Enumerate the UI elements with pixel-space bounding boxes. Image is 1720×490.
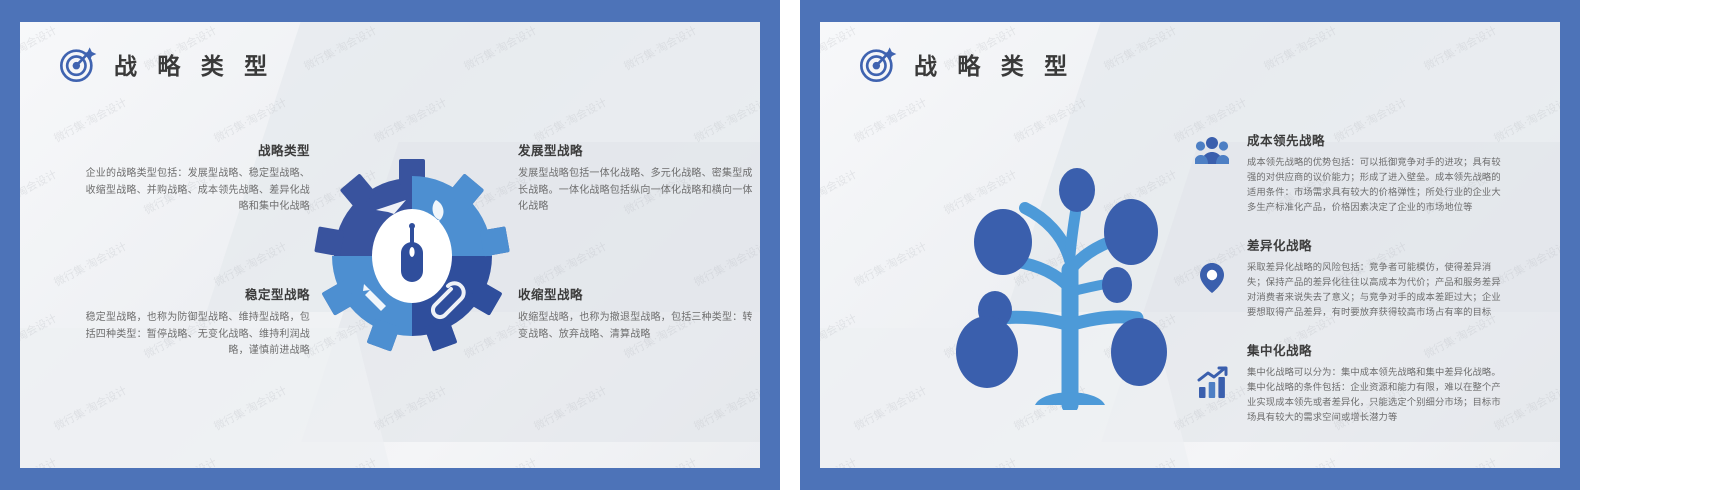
- watermark-text: 微行集·淘会设计: [51, 238, 130, 290]
- watermark-text: 微行集·淘会设计: [1101, 454, 1180, 468]
- block-title: 收缩型战略: [518, 284, 756, 303]
- slide-right-header: 战 略 类 型: [858, 44, 1074, 84]
- watermark-text: 微行集·淘会设计: [461, 22, 540, 74]
- text-block-strategy-types: 战略类型 企业的战略类型包括：发展型战略、稳定型战略、收缩型战略、并购战略、成本…: [78, 140, 310, 216]
- people-icon: [1195, 134, 1229, 168]
- watermark-text: 微行集·淘会设计: [20, 454, 60, 468]
- list-item-focus-strategy: 集中化战略 集中化战略可以分为：集中成本领先战略和集中差异化战略。集中化战略的条…: [1195, 340, 1505, 425]
- watermark-text: 微行集·淘会设计: [211, 238, 290, 290]
- block-title: 战略类型: [78, 140, 310, 159]
- watermark-text: 微行集·淘会设计: [211, 382, 290, 434]
- block-body: 稳定型战略，也称为防御型战略、维持型战略，包括四种类型：暂停战略、无变化战略、维…: [78, 310, 310, 360]
- location-pin-icon: [1195, 261, 1229, 295]
- watermark-text: 微行集·淘会设计: [531, 238, 610, 290]
- watermark-text: 微行集·淘会设计: [851, 238, 930, 290]
- watermark-text: 微行集·淘会设计: [20, 310, 60, 362]
- list-item-title: 集中化战略: [1247, 340, 1505, 359]
- watermark-text: 微行集·淘会设计: [20, 22, 60, 74]
- watermark-text: 微行集·淘会设计: [691, 94, 760, 146]
- target-icon: [858, 44, 898, 84]
- text-block-retrenchment-strategy: 收缩型战略 收缩型战略，也称为撤退型战略，包括三种类型：转变战略、放弃战略、清算…: [518, 284, 756, 343]
- list-item-body: 集中化战略可以分为：集中成本领先战略和集中差异化战略。集中化战略的条件包括：企业…: [1247, 365, 1505, 425]
- text-block-stability-strategy: 稳定型战略 稳定型战略，也称为防御型战略、维持型战略，包括四种类型：暂停战略、无…: [78, 284, 310, 360]
- list-item-differentiation: 差异化战略 采取差异化战略的风险包括：竞争者可能模仿，使得差异消失；保持产品的差…: [1195, 235, 1505, 320]
- watermark-text: 微行集·淘会设计: [820, 166, 860, 218]
- watermark-text: 微行集·淘会设计: [20, 166, 60, 218]
- block-body: 收缩型战略，也称为撤退型战略，包括三种类型：转变战略、放弃战略、清算战略: [518, 310, 756, 343]
- watermark-text: 微行集·淘会设计: [1261, 454, 1340, 468]
- block-title: 稳定型战略: [78, 284, 310, 303]
- list-item-title: 成本领先战略: [1247, 130, 1505, 149]
- watermark-text: 微行集·淘会设计: [621, 22, 700, 74]
- slide-right-canvas: 微行集·淘会设计微行集·淘会设计微行集·淘会设计微行集·淘会设计微行集·淘会设计…: [820, 22, 1560, 468]
- watermark-text: 微行集·淘会设计: [820, 454, 860, 468]
- watermark-text: 微行集·淘会设计: [51, 94, 130, 146]
- watermark-text: 微行集·淘会设计: [691, 238, 760, 290]
- watermark-text: 微行集·淘会设计: [851, 94, 930, 146]
- slide-left-header: 战 略 类 型: [58, 44, 274, 84]
- watermark-text: 微行集·淘会设计: [1421, 22, 1500, 74]
- watermark-text: 微行集·淘会设计: [531, 382, 610, 434]
- watermark-text: 微行集·淘会设计: [820, 310, 860, 362]
- watermark-text: 微行集·淘会设计: [1261, 22, 1340, 74]
- block-title: 发展型战略: [518, 140, 756, 159]
- list-item-text: 差异化战略 采取差异化战略的风险包括：竞争者可能模仿，使得差异消失；保持产品的差…: [1247, 235, 1505, 320]
- block-body: 发展型战略包括一体化战略、多元化战略、密集型成长战略。一体化战略包括纵向一体化战…: [518, 166, 756, 216]
- list-item-body: 采取差异化战略的风险包括：竞争者可能模仿，使得差异消失；保持产品的差异化往往以高…: [1247, 260, 1505, 320]
- watermark-text: 微行集·淘会设计: [301, 454, 380, 468]
- page-title: 战 略 类 型: [914, 47, 1074, 81]
- slide-deck: 微行集·淘会设计微行集·淘会设计微行集·淘会设计微行集·淘会设计微行集·淘会设计…: [0, 0, 1720, 490]
- watermark-text: 微行集·淘会设计: [941, 454, 1020, 468]
- slide-left: 微行集·淘会设计微行集·淘会设计微行集·淘会设计微行集·淘会设计微行集·淘会设计…: [0, 0, 780, 490]
- watermark-text: 微行集·淘会设计: [371, 382, 450, 434]
- block-body: 企业的战略类型包括：发展型战略、稳定型战略、收缩型战略、并购战略、成本领先战略、…: [78, 166, 310, 216]
- watermark-text: 微行集·淘会设计: [301, 22, 380, 74]
- bar-chart-icon: [1195, 366, 1229, 400]
- watermark-text: 微行集·淘会设计: [531, 94, 610, 146]
- slide-right: 微行集·淘会设计微行集·淘会设计微行集·淘会设计微行集·淘会设计微行集·淘会设计…: [800, 0, 1580, 490]
- list-item-body: 成本领先战略的优势包括：可以抵御竞争对手的进攻；具有较强的对供应商的议价能力；形…: [1247, 155, 1505, 215]
- watermark-text: 微行集·淘会设计: [51, 382, 130, 434]
- list-item-text: 成本领先战略 成本领先战略的优势包括：可以抵御竞争对手的进攻；具有较强的对供应商…: [1247, 130, 1505, 215]
- watermark-text: 微行集·淘会设计: [141, 454, 220, 468]
- slide-left-canvas: 微行集·淘会设计微行集·淘会设计微行集·淘会设计微行集·淘会设计微行集·淘会设计…: [20, 22, 760, 468]
- watermark-text: 微行集·淘会设计: [211, 94, 290, 146]
- target-icon: [58, 44, 98, 84]
- watermark-text: 微行集·淘会设计: [820, 22, 860, 74]
- page-title: 战 略 类 型: [114, 47, 274, 81]
- watermark-text: 微行集·淘会设计: [851, 382, 930, 434]
- watermark-text: 微行集·淘会设计: [461, 454, 540, 468]
- watermark-text: 微行集·淘会设计: [1421, 454, 1500, 468]
- watermark-text: 微行集·淘会设计: [371, 94, 450, 146]
- list-item-text: 集中化战略 集中化战略可以分为：集中成本领先战略和集中差异化战略。集中化战略的条…: [1247, 340, 1505, 425]
- list-item-cost-leadership: 成本领先战略 成本领先战略的优势包括：可以抵御竞争对手的进攻；具有较强的对供应商…: [1195, 130, 1505, 215]
- watermark-text: 微行集·淘会设计: [691, 382, 760, 434]
- watermark-text: 微行集·淘会设计: [1101, 22, 1180, 74]
- list-item-title: 差异化战略: [1247, 235, 1505, 254]
- watermark-text: 微行集·淘会设计: [621, 454, 700, 468]
- text-block-growth-strategy: 发展型战略 发展型战略包括一体化战略、多元化战略、密集型成长战略。一体化战略包括…: [518, 140, 756, 216]
